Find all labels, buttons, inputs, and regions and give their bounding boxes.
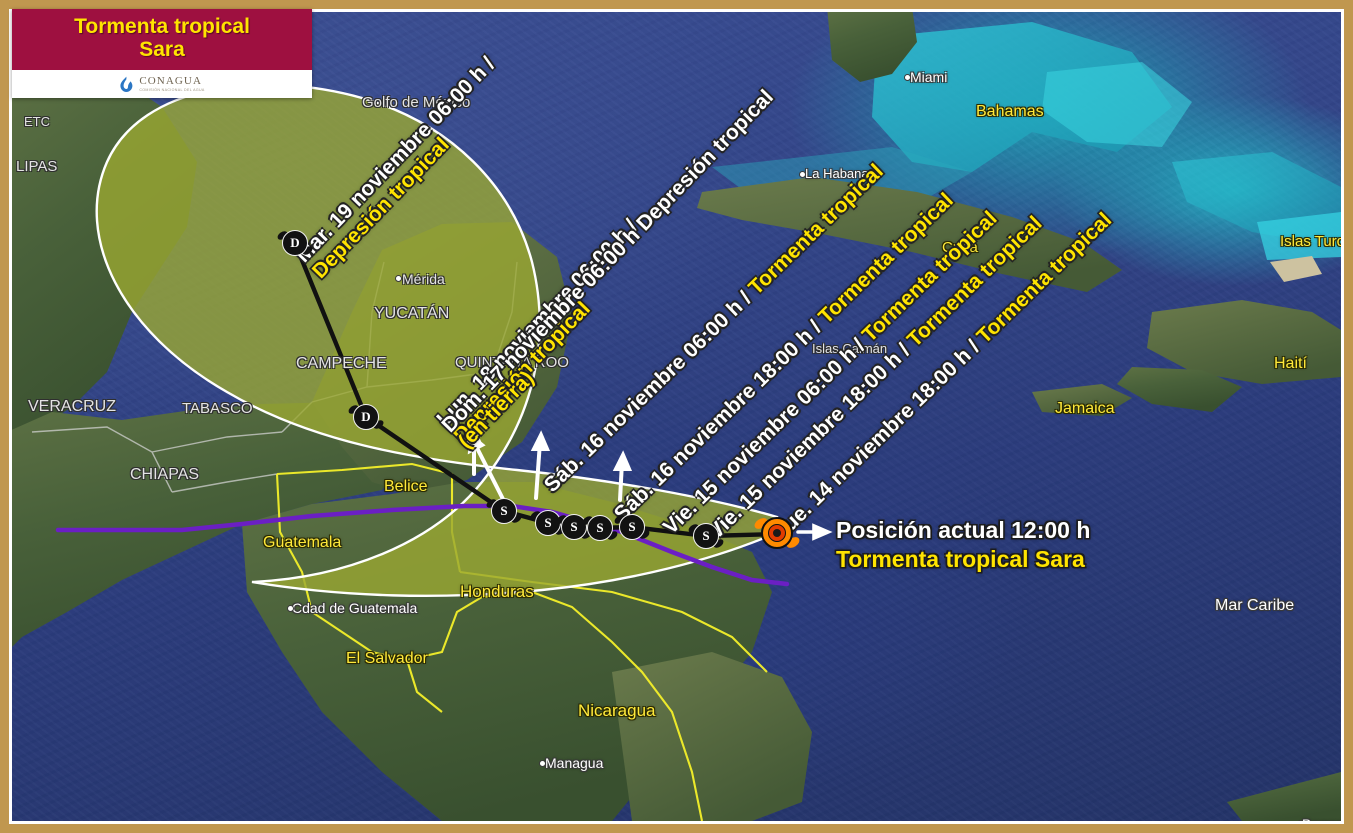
forecast-map-page: Golfo de MéxicoLIPASETCVERACRUZTABASCOCH… [0, 0, 1353, 833]
agency-logo-text: CONAGUA COMISIÓN NACIONAL DEL AGUA [139, 76, 204, 92]
map-canvas[interactable]: Golfo de MéxicoLIPASETCVERACRUZTABASCOCH… [12, 12, 1341, 821]
agency-logo-bar: CONAGUA COMISIÓN NACIONAL DEL AGUA [12, 70, 312, 98]
banner-title-line1: Tormenta tropical [20, 15, 304, 38]
geography-layer [12, 12, 1341, 821]
conagua-eagle-water-icon [119, 76, 134, 93]
agency-subtitle: COMISIÓN NACIONAL DEL AGUA [139, 89, 204, 93]
title-banner-body: Tormenta tropical Sara [12, 9, 312, 70]
banner-title-line2: Sara [20, 38, 304, 61]
title-banner: Tormenta tropical Sara CONAGUA COMISIÓN … [12, 9, 312, 98]
agency-name: CONAGUA [139, 76, 202, 87]
